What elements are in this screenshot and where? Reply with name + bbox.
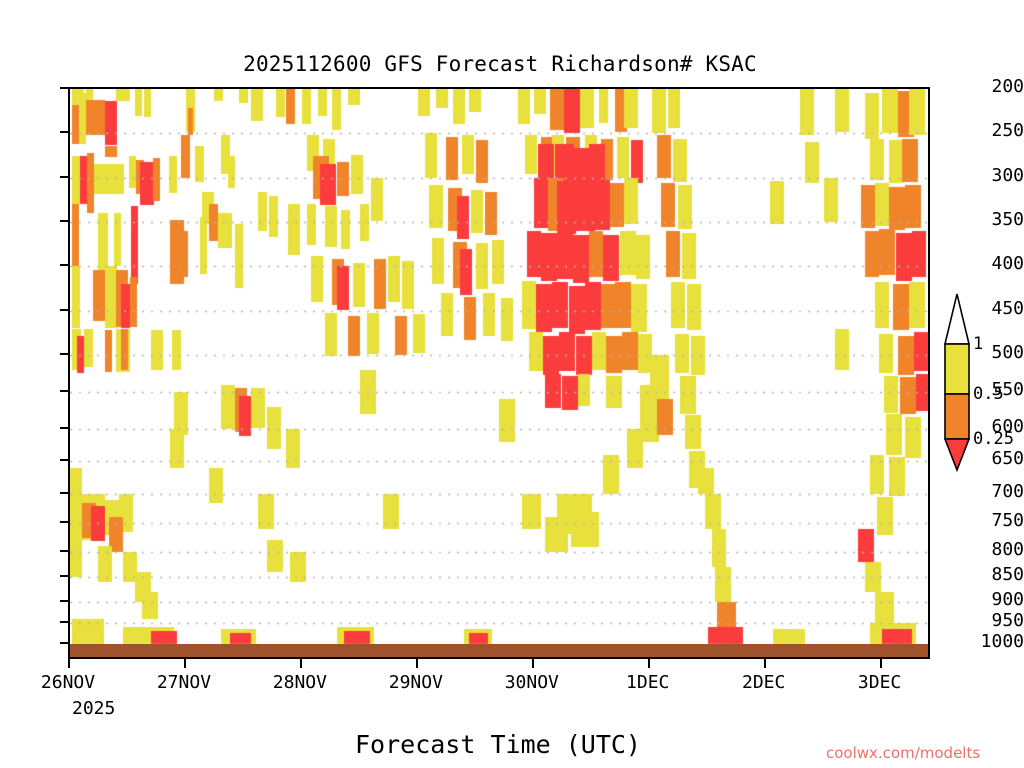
watermark: coolwx.com/modelts <box>826 744 980 762</box>
colorbar-band-orange <box>945 394 969 439</box>
xtick-label-2DEC: 2DEC <box>714 672 814 693</box>
ytick-label-800: 800 <box>964 541 1024 559</box>
ytick-label-200: 200 <box>964 78 1024 96</box>
colorbar-band-yellow <box>945 344 969 394</box>
xtick-mark-30NOV <box>532 659 534 668</box>
ytick-label-700: 700 <box>964 483 1024 501</box>
ytick-label-850: 850 <box>964 566 1024 584</box>
page-title: 2025112600 GFS Forecast Richardson# KSAC <box>0 52 1024 76</box>
xtick-mark-29NOV <box>416 659 418 668</box>
colorbar-label-1: 1 <box>973 336 983 353</box>
chart-title-text: 2025112600 GFS Forecast Richardson# KSAC <box>243 52 757 76</box>
xtick-label-1DEC: 1DEC <box>598 672 698 693</box>
xaxis-year-label: 2025 <box>72 698 115 719</box>
xtick-mark-27NOV <box>184 659 186 668</box>
gridline-overlay <box>70 89 928 657</box>
colorbar-arrow-down <box>945 439 969 470</box>
colorbar-arrow-up <box>945 294 969 344</box>
xtick-label-27NOV: 27NOV <box>134 672 234 693</box>
colorbar-label-0.25: 0.25 <box>973 431 1014 448</box>
xtick-label-29NOV: 29NOV <box>366 672 466 693</box>
ytick-label-300: 300 <box>964 167 1024 185</box>
chart-stage: 2025112600 GFS Forecast Richardson# KSAC… <box>0 0 1024 768</box>
ytick-label-1000: 1000 <box>964 633 1024 651</box>
xtick-mark-26NOV <box>68 659 70 668</box>
ytick-label-400: 400 <box>964 255 1024 273</box>
colorbar-label-0.5: 0.5 <box>973 386 1004 403</box>
xtick-label-3DEC: 3DEC <box>830 672 930 693</box>
ytick-label-950: 950 <box>964 612 1024 630</box>
colorbar: 1 0.5 0.25 <box>940 292 1024 472</box>
xtick-mark-28NOV <box>300 659 302 668</box>
xtick-label-26NOV: 26NOV <box>18 672 118 693</box>
ytick-label-350: 350 <box>964 211 1024 229</box>
xtick-mark-1DEC <box>648 659 650 668</box>
xtick-label-28NOV: 28NOV <box>250 672 350 693</box>
ytick-label-900: 900 <box>964 591 1024 609</box>
xtick-label-30NOV: 30NOV <box>482 672 582 693</box>
ytick-label-250: 250 <box>964 122 1024 140</box>
xaxis-title-text: Forecast Time (UTC) <box>355 730 641 759</box>
xtick-mark-3DEC <box>880 659 882 668</box>
ytick-label-750: 750 <box>964 512 1024 530</box>
plot-area <box>68 87 930 659</box>
terrain-band <box>70 644 928 657</box>
xtick-mark-2DEC <box>764 659 766 668</box>
